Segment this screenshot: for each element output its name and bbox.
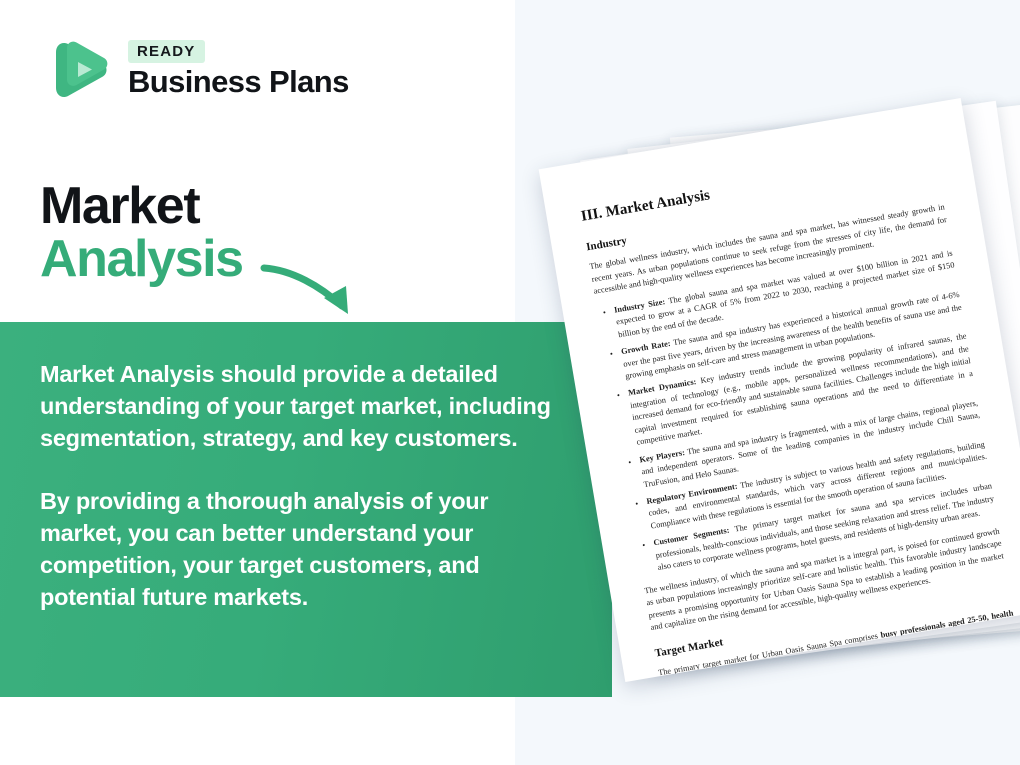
brand-name: Business Plans <box>128 66 349 99</box>
page-title: Market Analysis <box>40 180 243 286</box>
page-title-line-2: Analysis <box>40 233 243 286</box>
page-title-line-1: Market <box>40 180 243 233</box>
curved-arrow-down-right-icon <box>258 258 388 330</box>
slide-root: READY Business Plans Market Analysis Mar… <box>0 0 1020 765</box>
panel-text-block: Market Analysis should provide a detaile… <box>40 358 560 613</box>
document-stack: The global wellness industry, which incl… <box>515 0 1020 765</box>
ready-badge: READY <box>128 40 205 63</box>
brand-logo-block[interactable]: READY Business Plans <box>40 32 349 106</box>
panel-paragraph-1: Market Analysis should provide a detaile… <box>40 358 560 455</box>
brand-logo-text: READY Business Plans <box>128 40 349 99</box>
play-triangle-logo-icon <box>40 32 114 106</box>
front-document-page[interactable]: III. Market Analysis Industry The global… <box>539 98 1020 682</box>
document-content: III. Market Analysis Industry The global… <box>539 98 1020 682</box>
document-bullet-list: Industry Size: The global sauna and spa … <box>596 247 997 577</box>
panel-paragraph-2: By providing a thorough analysis of your… <box>40 485 560 614</box>
